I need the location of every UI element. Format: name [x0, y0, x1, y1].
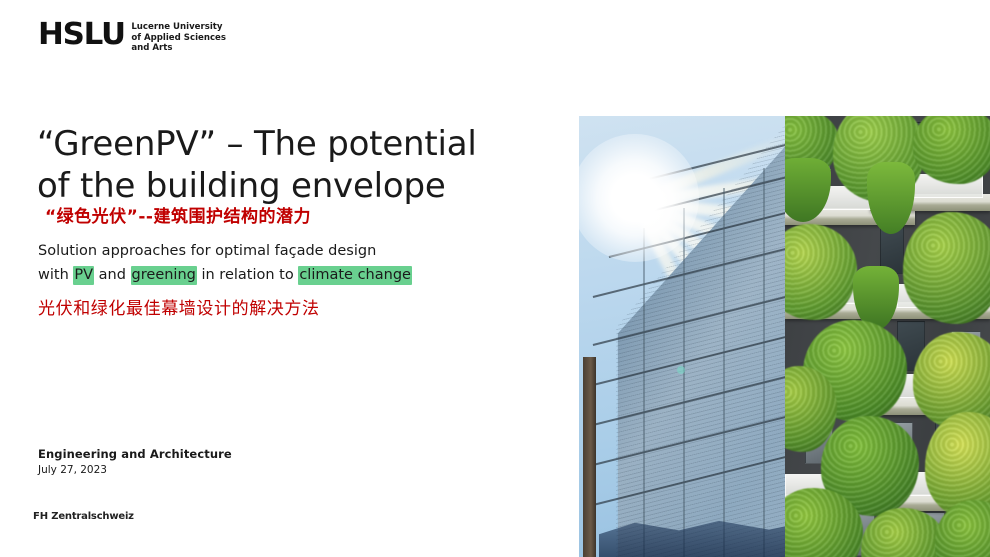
facade-mullion-vertical — [683, 208, 685, 557]
slide-title-chinese: “绿色光伏”--建筑围护结构的潜力 — [45, 206, 311, 228]
fh-zentralschweiz-footer: FH Zentralschweiz — [33, 511, 134, 522]
slide-subtitle-chinese: 光伏和绿化最佳幕墙设计的解决方法 — [38, 297, 320, 321]
facade-mullion-vertical — [723, 188, 725, 557]
fh-footer-rest: Zentralschweiz — [48, 511, 134, 522]
hslu-logo-subtitle-line3: and Arts — [131, 43, 226, 54]
subtitle-text-inrelationto: in relation to — [197, 267, 298, 283]
hslu-logo-subtitle-line2: of Applied Sciences — [131, 33, 226, 44]
facade-mullion-vertical — [763, 168, 765, 557]
hslu-logo: HSLU Lucerne University of Applied Scien… — [38, 20, 226, 54]
presentation-slide: HSLU Lucerne University of Applied Scien… — [0, 0, 990, 557]
slide-meta: Engineering and Architecture July 27, 20… — [38, 447, 232, 478]
highlight-climate-change: climate change — [298, 266, 412, 285]
date-label: July 27, 2023 — [38, 463, 232, 478]
subtitle-text-and: and — [94, 267, 131, 283]
slide-title-line1: “GreenPV” – The potential — [37, 123, 557, 165]
highlight-pv: PV — [73, 266, 94, 285]
subtitle-line1: Solution approaches for optimal façade d… — [38, 240, 558, 264]
hslu-logo-subtitle: Lucerne University of Applied Sciences a… — [131, 20, 226, 54]
subtitle-line2: with PV and greening in relation to clim… — [38, 264, 558, 288]
slide-image-band — [579, 116, 990, 557]
hslu-logo-subtitle-line1: Lucerne University — [131, 22, 226, 33]
slide-title-line2: of the building envelope — [37, 165, 557, 207]
facade-mullion-vertical — [643, 228, 645, 557]
lens-flare-dot — [677, 366, 685, 374]
hslu-logo-wordmark: HSLU — [38, 20, 125, 50]
highlight-greening: greening — [131, 266, 197, 285]
slide-subtitle: Solution approaches for optimal façade d… — [38, 240, 558, 287]
fh-footer-bold: FH — [33, 511, 48, 522]
subtitle-text-with: with — [38, 267, 73, 283]
green-facade-photo — [785, 116, 990, 557]
slide-title: “GreenPV” – The potential of the buildin… — [37, 123, 557, 207]
solar-pv-facade-photo — [579, 116, 785, 557]
department-label: Engineering and Architecture — [38, 447, 232, 462]
utility-pole — [583, 357, 596, 557]
balcony-tree — [903, 212, 990, 324]
